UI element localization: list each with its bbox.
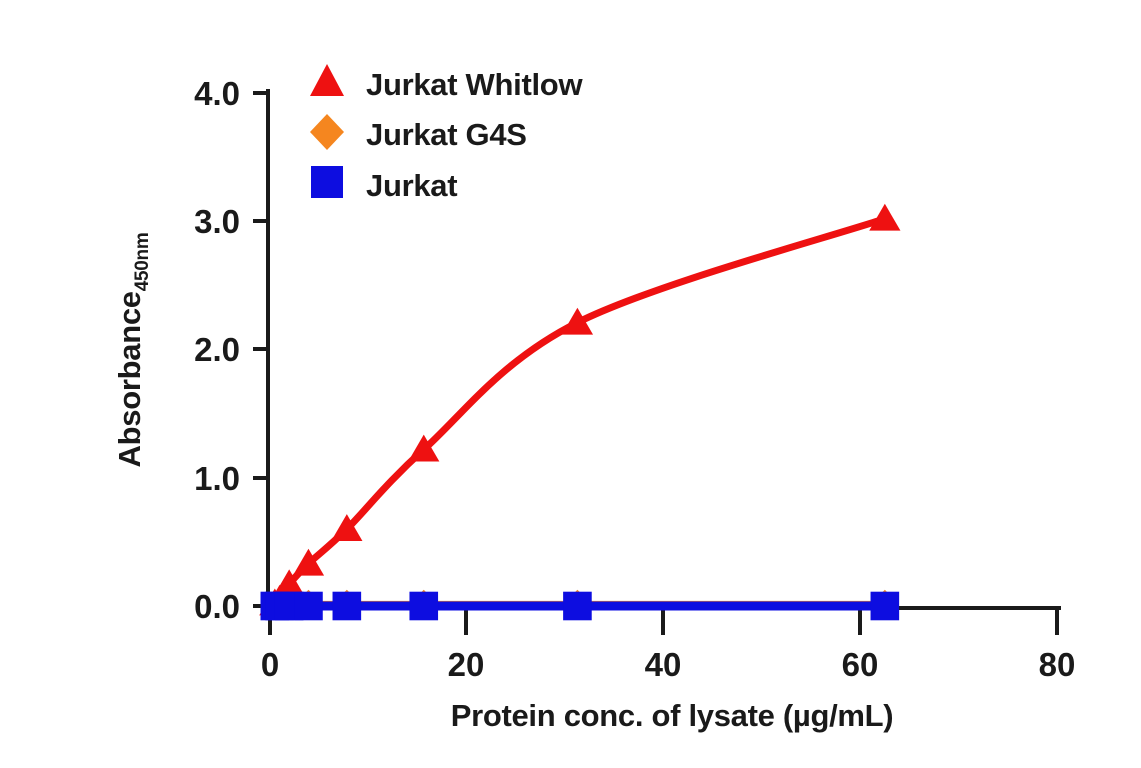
square-marker-icon — [311, 166, 343, 198]
legend-label-2: Jurkat — [366, 168, 457, 203]
data-point-marker — [871, 592, 900, 621]
chart-background — [0, 0, 1141, 768]
y-tick-label-4: 4.0 — [194, 75, 240, 112]
y-tick-label-3: 3.0 — [194, 203, 240, 240]
y-tick-label-2: 2.0 — [194, 331, 240, 368]
x-tick-label-0: 0 — [261, 646, 279, 683]
x-tick-label-60: 60 — [842, 646, 879, 683]
y-tick-label-0: 0.0 — [194, 588, 240, 625]
x-tick-label-40: 40 — [645, 646, 682, 683]
x-tick-label-80: 80 — [1039, 646, 1076, 683]
data-point-marker — [294, 592, 323, 621]
chart-page: 4.0 3.0 2.0 1.0 0.0 0 20 40 60 80 Protei… — [0, 0, 1141, 768]
data-point-marker — [563, 592, 592, 621]
x-tick-label-20: 20 — [448, 646, 485, 683]
y-axis-title-main: Absorbance — [112, 291, 147, 467]
legend-item-jurkat[interactable]: Jurkat — [311, 166, 457, 203]
data-point-marker — [333, 592, 362, 621]
data-point-marker — [409, 592, 438, 621]
absorbance-dose-response-chart: 4.0 3.0 2.0 1.0 0.0 0 20 40 60 80 Protei… — [0, 0, 1141, 768]
y-axis-title-subscript: 450nm — [132, 233, 153, 292]
legend-label-0: Jurkat Whitlow — [366, 67, 583, 102]
y-tick-label-1: 1.0 — [194, 460, 240, 497]
x-axis-title: Protein conc. of lysate (µg/mL) — [451, 698, 894, 733]
legend-label-1: Jurkat G4S — [366, 117, 527, 152]
